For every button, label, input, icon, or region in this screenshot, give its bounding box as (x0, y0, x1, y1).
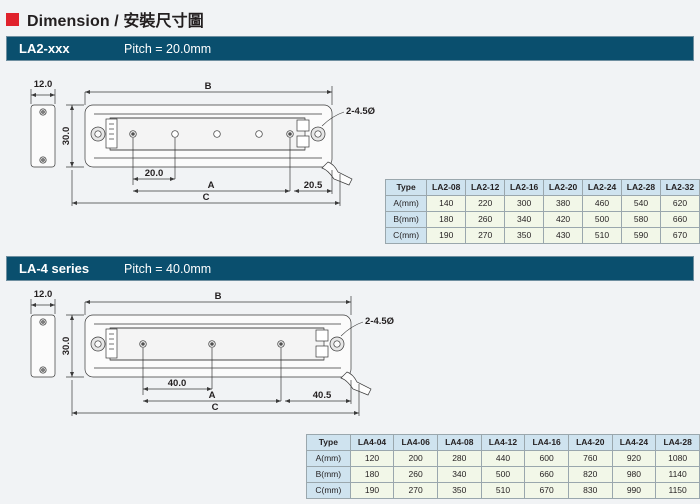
table-cell: 270 (394, 483, 438, 499)
red-square-marker-icon (6, 13, 19, 26)
table-cell: 440 (481, 451, 525, 467)
table-cell: 1150 (656, 483, 700, 499)
table-cell: 380 (544, 196, 583, 212)
table-cell: 500 (583, 212, 622, 228)
col-header: LA2-20 (544, 180, 583, 196)
dim-a-la4: A (209, 390, 216, 401)
page-title: Dimension / 安裝尺寸圖 (6, 7, 204, 31)
row-label: C(mm) (386, 228, 427, 244)
dim-side-width-la2: 12.0 (34, 79, 53, 90)
col-header: LA4-24 (612, 435, 656, 451)
table-cell: 340 (437, 467, 481, 483)
table-cell: 270 (466, 228, 505, 244)
dim-c-la4: C (212, 402, 219, 413)
col-header: LA2-16 (505, 180, 544, 196)
section-pitch-la4: Pitch = 40.0mm (124, 262, 211, 276)
table-cell: 590 (622, 228, 661, 244)
dimension-drawing-la4: 12.0 30.0 B 40.0 A 40.5 C 2-4.5Ø (0, 288, 400, 438)
table-cell: 760 (568, 451, 612, 467)
section-header-la2: LA2-xxx Pitch = 20.0mm (6, 36, 694, 61)
table-cell: 660 (660, 212, 699, 228)
dim-b-la4: B (215, 291, 222, 302)
row-label: A(mm) (307, 451, 351, 467)
table-cell: 220 (466, 196, 505, 212)
spec-table-la4: Type LA4-04 LA4-06 LA4-08 LA4-12 LA4-16 … (306, 434, 700, 499)
dim-end-offset-la2: 20.5 (304, 180, 323, 191)
dim-pitch-la2: 20.0 (145, 168, 164, 179)
col-header: LA4-08 (437, 435, 481, 451)
table-cell: 420 (544, 212, 583, 228)
table-cell: 260 (466, 212, 505, 228)
dim-c-la2: C (203, 192, 210, 203)
col-header: LA4-12 (481, 435, 525, 451)
page-title-text: Dimension / 安裝尺寸圖 (27, 7, 204, 31)
table-cell: 140 (427, 196, 466, 212)
table-cell: 500 (481, 467, 525, 483)
col-header: LA4-16 (525, 435, 569, 451)
table-cell: 350 (437, 483, 481, 499)
section-name-la2: LA2-xxx (19, 41, 124, 56)
hole-note-la2: 2-4.5Ø (346, 106, 375, 117)
section-pitch-la2: Pitch = 20.0mm (124, 42, 211, 56)
table-row: B(mm) 180 260 340 500 660 820 980 1140 (307, 467, 700, 483)
table-cell: 300 (505, 196, 544, 212)
table-cell: 540 (622, 196, 661, 212)
table-cell: 510 (583, 228, 622, 244)
col-header: LA4-06 (394, 435, 438, 451)
dim-pitch-la4: 40.0 (168, 378, 187, 389)
dim-side-width-la4: 12.0 (34, 289, 53, 300)
section-name-la4: LA-4 series (19, 261, 124, 276)
table-cell: 340 (505, 212, 544, 228)
dim-end-offset-la4: 40.5 (313, 390, 332, 401)
table-row: A(mm) 140 220 300 380 460 540 620 (386, 196, 700, 212)
table-cell: 660 (525, 467, 569, 483)
dimension-drawing-la2: 12.0 30.0 B 20.0 A 20.5 C 2-4.5Ø (0, 78, 400, 228)
dim-height-la4: 30.0 (61, 337, 72, 356)
table-cell: 350 (505, 228, 544, 244)
table-cell: 820 (568, 467, 612, 483)
table-row: C(mm) 190 270 350 430 510 590 670 (386, 228, 700, 244)
table-cell: 260 (394, 467, 438, 483)
col-header: Type (386, 180, 427, 196)
table-header-row: Type LA4-04 LA4-06 LA4-08 LA4-12 LA4-16 … (307, 435, 700, 451)
table-cell: 990 (612, 483, 656, 499)
table-cell: 190 (427, 228, 466, 244)
table-cell: 190 (350, 483, 394, 499)
table-cell: 830 (568, 483, 612, 499)
dim-height-la2: 30.0 (61, 127, 72, 146)
row-label: B(mm) (386, 212, 427, 228)
section-header-la4: LA-4 series Pitch = 40.0mm (6, 256, 694, 281)
row-label: C(mm) (307, 483, 351, 499)
col-header: LA4-20 (568, 435, 612, 451)
col-header: LA2-08 (427, 180, 466, 196)
table-cell: 510 (481, 483, 525, 499)
table-cell: 460 (583, 196, 622, 212)
col-header: LA2-12 (466, 180, 505, 196)
table-cell: 670 (525, 483, 569, 499)
table-header-row: Type LA2-08 LA2-12 LA2-16 LA2-20 LA2-24 … (386, 180, 700, 196)
table-cell: 1140 (656, 467, 700, 483)
table-cell: 620 (660, 196, 699, 212)
table-cell: 600 (525, 451, 569, 467)
table-cell: 670 (660, 228, 699, 244)
col-header: LA4-04 (350, 435, 394, 451)
table-cell: 1080 (656, 451, 700, 467)
col-header: LA2-32 (660, 180, 699, 196)
table-cell: 200 (394, 451, 438, 467)
table-cell: 980 (612, 467, 656, 483)
table-row: C(mm) 190 270 350 510 670 830 990 1150 (307, 483, 700, 499)
col-header: LA4-28 (656, 435, 700, 451)
table-cell: 280 (437, 451, 481, 467)
table-row: B(mm) 180 260 340 420 500 580 660 (386, 212, 700, 228)
table-cell: 180 (350, 467, 394, 483)
table-cell: 430 (544, 228, 583, 244)
col-header: LA2-28 (622, 180, 661, 196)
hole-note-la4: 2-4.5Ø (365, 316, 394, 327)
table-cell: 180 (427, 212, 466, 228)
col-header: Type (307, 435, 351, 451)
table-cell: 920 (612, 451, 656, 467)
spec-table-la2: Type LA2-08 LA2-12 LA2-16 LA2-20 LA2-24 … (385, 179, 700, 244)
table-row: A(mm) 120 200 280 440 600 760 920 1080 (307, 451, 700, 467)
dim-b-la2: B (205, 81, 212, 92)
col-header: LA2-24 (583, 180, 622, 196)
table-cell: 120 (350, 451, 394, 467)
row-label: A(mm) (386, 196, 427, 212)
table-cell: 580 (622, 212, 661, 228)
row-label: B(mm) (307, 467, 351, 483)
dim-a-la2: A (208, 180, 215, 191)
